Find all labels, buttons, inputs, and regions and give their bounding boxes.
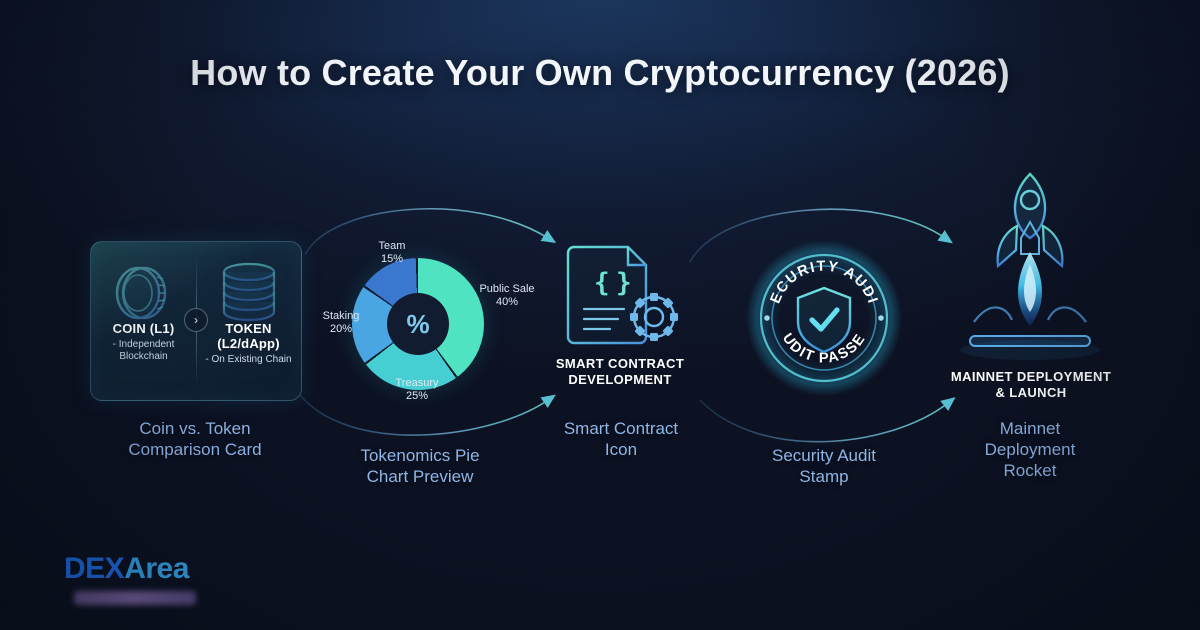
mainnet-label: MAINNET DEPLOYMENT& LAUNCH	[928, 369, 1134, 401]
infographic-canvas: How to Create Your Own Cryptocurrency (2…	[0, 0, 1200, 630]
pie-center-label: %	[387, 293, 449, 355]
logo-tagline-bar	[74, 591, 196, 605]
pie-label-team: Team15%	[362, 240, 422, 266]
coin-title: COIN (L1)	[113, 321, 175, 336]
caption-step-4: Security AuditStamp	[724, 445, 924, 487]
caption-step-3: Smart ContractIcon	[521, 418, 721, 460]
arrow-contract-to-rocket-lower	[700, 400, 948, 442]
card-half-coin: COIN (L1) - Independent Blockchain	[91, 242, 196, 400]
logo-text: DEXArea	[64, 553, 196, 585]
pie-label-treasury: Treasury25%	[386, 377, 448, 403]
arrow-contract-to-rocket	[690, 209, 945, 262]
shield-icon	[798, 288, 850, 352]
coin-subtitle: - Independent Blockchain	[113, 339, 175, 363]
caption-step-2: Tokenomics PieChart Preview	[320, 445, 520, 487]
page-title: How to Create Your Own Cryptocurrency (2…	[0, 52, 1200, 94]
svg-text:{: {	[594, 268, 610, 298]
caption-step-5: MainnetDeploymentRocket	[930, 418, 1130, 481]
stamp-bottom-text: AUDIT PASSED	[779, 306, 869, 366]
coin-token-comparison-card[interactable]: COIN (L1) - Independent Blockchain TOKEN…	[90, 241, 302, 401]
rocket-window-icon	[1021, 191, 1039, 209]
smart-contract-icon: { }	[568, 247, 678, 343]
svg-text:SECURITY AUDIT: SECURITY AUDIT	[768, 258, 881, 322]
token-title: TOKEN (L2/dApp)	[217, 321, 279, 351]
card-half-token: TOKEN (L2/dApp) - On Existing Chain	[196, 242, 301, 400]
rocket-icon	[960, 174, 1100, 360]
svg-text:AUDIT PASSED: AUDIT PASSED	[779, 306, 869, 366]
stamp-top-text: SECURITY AUDIT	[768, 258, 881, 322]
pie-label-staking: Staking20%	[313, 310, 369, 336]
security-audit-stamp: SECURITY AUDIT AUDIT PASSED	[746, 240, 902, 396]
token-subtitle: - On Existing Chain	[205, 354, 291, 366]
chevron-right-icon[interactable]: ›	[184, 308, 208, 332]
svg-text:}: }	[616, 268, 632, 298]
launch-pad	[970, 336, 1090, 346]
pie-label-public-sale: Public Sale40%	[470, 283, 544, 309]
check-icon	[812, 310, 837, 329]
logo-area: Area	[124, 552, 189, 585]
smart-contract-label: SMART CONTRACTDEVELOPMENT	[530, 356, 710, 388]
dexarea-logo[interactable]: DEXArea	[64, 553, 196, 605]
arrow-card-to-contract	[305, 209, 548, 255]
logo-dex: DEX	[64, 552, 124, 585]
rocket-flame-icon	[1018, 252, 1042, 326]
caption-step-1: Coin vs. TokenComparison Card	[95, 418, 295, 460]
tokenomics-pie-chart[interactable]: %	[352, 258, 484, 390]
